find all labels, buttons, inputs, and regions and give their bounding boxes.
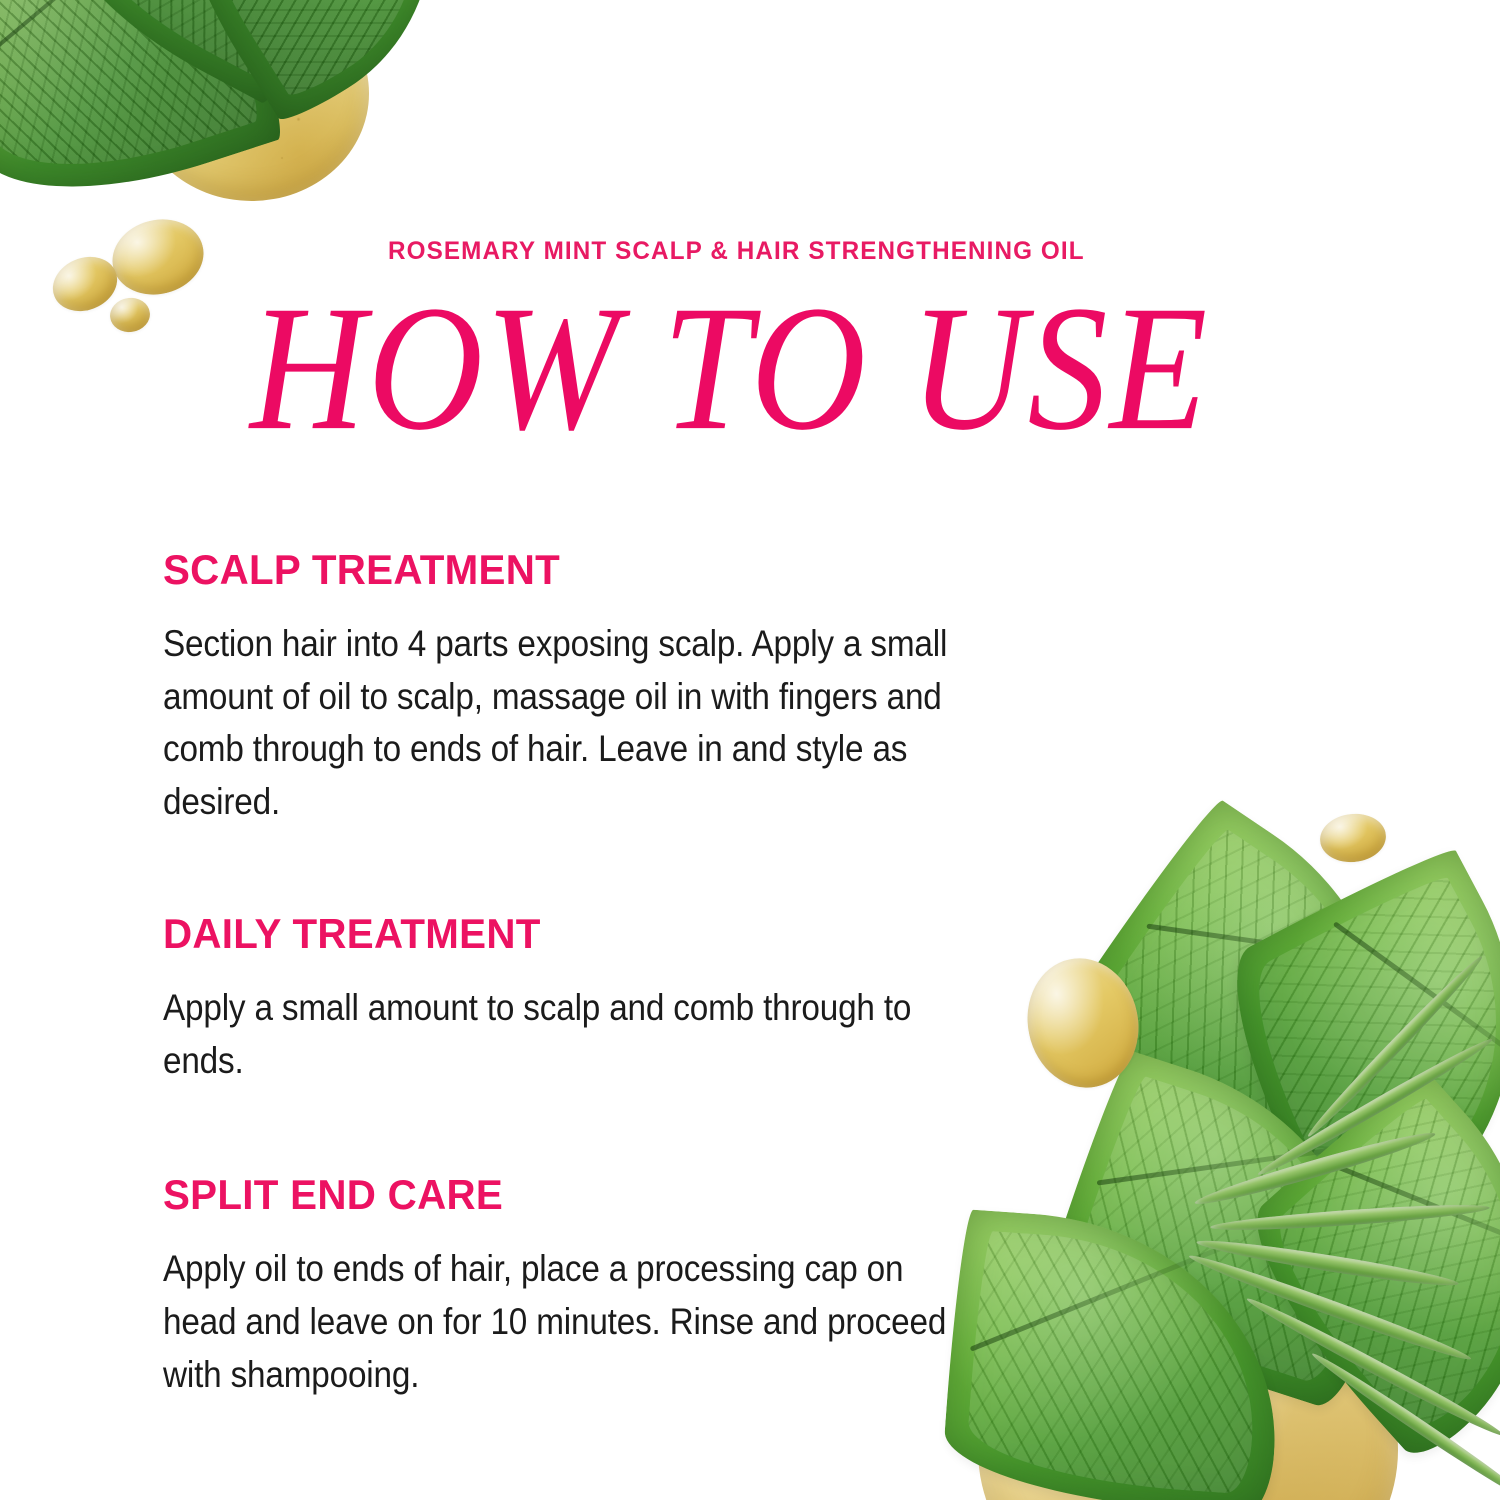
rosemary-sprig-3 [1195, 1234, 1459, 1291]
section-scalp-treatment: SCALP TREATMENT Section hair into 4 part… [163, 548, 1063, 828]
section-daily-treatment: DAILY TREATMENT Apply a small amount to … [163, 912, 1063, 1087]
how-to-use-infographic: ROSEMARY MINT SCALP & HAIR STRENGTHENING… [0, 0, 1500, 1500]
section-heading: DAILY TREATMENT [163, 912, 1027, 956]
section-body: Apply a small amount to scalp and comb t… [163, 982, 973, 1087]
section-heading: SCALP TREATMENT [163, 548, 1027, 592]
mint-leaf-upper [37, 0, 388, 108]
section-body: Apply oil to ends of hair, place a proce… [163, 1243, 973, 1401]
section-split-end-care: SPLIT END CARE Apply oil to ends of hair… [163, 1173, 1063, 1401]
mint-leaf-right [131, 0, 509, 128]
rosemary-sprig-6 [1303, 952, 1486, 1141]
mint-leaf-br-right [1194, 840, 1500, 1250]
product-eyebrow-label: ROSEMARY MINT SCALP & HAIR STRENGTHENING… [388, 237, 1085, 266]
oil-blob-top [134, 0, 369, 201]
rosemary-sprig-8 [1309, 1348, 1500, 1500]
rosemary-sprig-2 [1210, 1200, 1490, 1234]
mint-leaf-br-far [1219, 1063, 1500, 1467]
oil-droplet-medium [45, 248, 126, 321]
top-left-decoration [0, 0, 420, 310]
oil-droplet-large [104, 210, 211, 304]
rosemary-sprig-1 [1192, 1126, 1437, 1211]
instructions-list: SCALP TREATMENT Section hair into 4 part… [163, 548, 1063, 1401]
mint-leaf-left [0, 0, 289, 229]
section-body: Section hair into 4 parts exposing scalp… [163, 618, 973, 828]
rosemary-sprig-4 [1255, 1033, 1496, 1180]
mint-leaf-br-top [1044, 793, 1485, 1226]
rosemary-sprig-7 [1244, 1293, 1500, 1442]
page-title: HOW TO USE [250, 278, 1209, 457]
oil-bubbles [134, 0, 369, 201]
oil-droplet-small [108, 295, 152, 334]
rosemary-sprig-5 [1186, 1249, 1473, 1366]
oil-droplet-br-upper [1318, 811, 1389, 866]
section-heading: SPLIT END CARE [163, 1173, 1027, 1217]
mint-leaf-br-mid [1035, 1047, 1426, 1412]
